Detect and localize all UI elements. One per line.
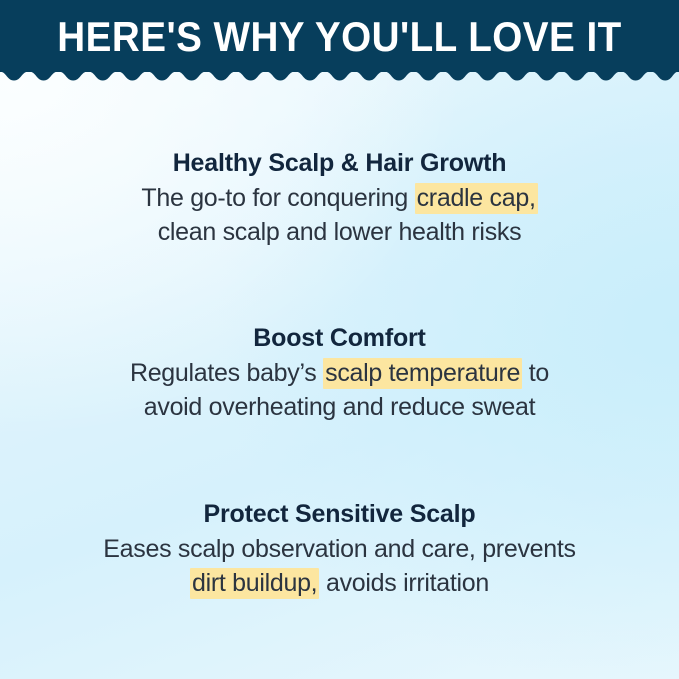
benefit-highlight: dirt buildup, [190,568,319,599]
benefit-text-post: avoids irritation [319,569,489,597]
benefit-item-protect-scalp: Protect Sensitive Scalp Eases scalp obse… [0,499,679,600]
benefit-highlight: cradle cap, [415,183,538,214]
benefit-item-boost-comfort: Boost Comfort Regulates baby’s scalp tem… [0,323,679,424]
benefit-highlight: scalp temperature [323,358,522,389]
benefit-body-line-1: Eases scalp observation and care, preven… [0,532,679,566]
benefit-heading: Healthy Scalp & Hair Growth [0,148,679,178]
page-title: HERE'S WHY YOU'LL LOVE IT [27,14,652,60]
benefit-text-pre: avoid overheating and reduce sweat [144,393,535,421]
benefit-body-line-2: clean scalp and lower health risks [0,215,679,249]
benefit-text-pre: The go-to for conquering [141,184,414,212]
benefit-heading: Protect Sensitive Scalp [0,499,679,529]
benefit-text-pre: clean scalp and lower health risks [158,218,522,246]
benefit-body-line-1: The go-to for conquering cradle cap, [0,181,679,215]
benefit-item-healthy-scalp: Healthy Scalp & Hair Growth The go-to fo… [0,148,679,249]
benefit-heading: Boost Comfort [0,323,679,353]
benefit-body-line-2: avoid overheating and reduce sweat [0,390,679,424]
benefit-body-line-2: dirt buildup, avoids irritation [0,566,679,600]
benefit-body: The go-to for conquering cradle cap, cle… [0,181,679,249]
benefit-text-pre: Eases scalp observation and care, preven… [103,535,575,563]
benefits-list: Healthy Scalp & Hair Growth The go-to fo… [0,82,679,679]
benefit-text-post: to [522,359,549,387]
benefit-text-pre: Regulates baby’s [130,359,323,387]
header-wave-edge [0,71,679,82]
benefit-body-line-1: Regulates baby’s scalp temperature to [0,356,679,390]
header-banner: HERE'S WHY YOU'LL LOVE IT [0,0,679,72]
benefit-body: Eases scalp observation and care, preven… [0,532,679,600]
benefit-body: Regulates baby’s scalp temperature to av… [0,356,679,424]
promo-poster: HERE'S WHY YOU'LL LOVE IT Healthy Scalp … [0,0,679,679]
